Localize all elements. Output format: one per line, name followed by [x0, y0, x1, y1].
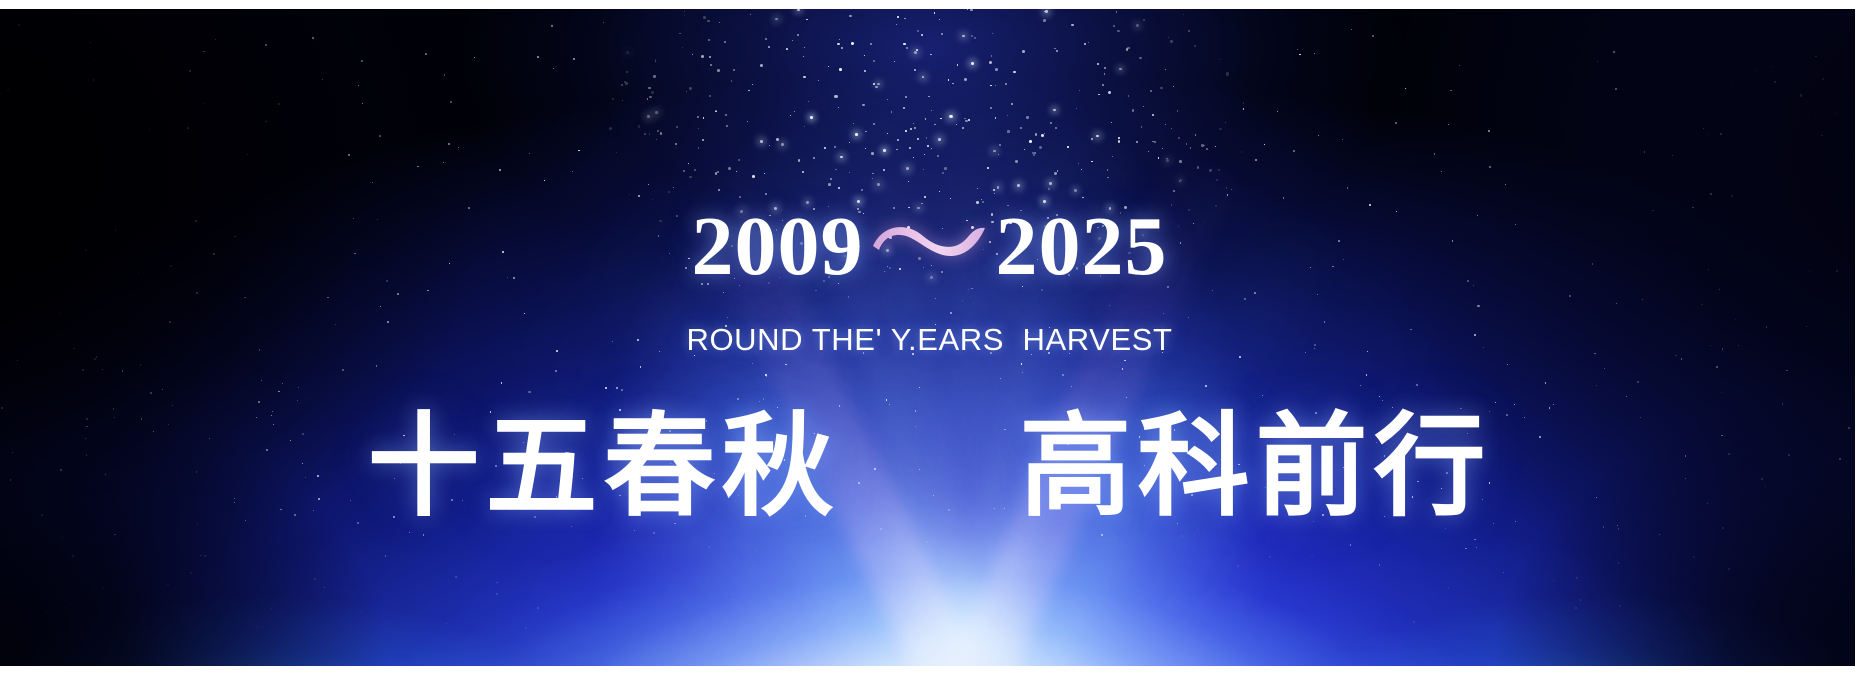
anniversary-banner: 2009 2025	[0, 0, 1859, 680]
wave-tilde-icon	[864, 212, 996, 270]
year-start: 2009	[692, 205, 864, 289]
banner-subtitle: ROUND THE' Y.EARS HARVEST	[0, 322, 1859, 358]
year-end: 2025	[996, 205, 1168, 289]
banner-headline: 十五春秋 高科前行	[0, 401, 1859, 533]
year-range: 2009 2025	[0, 205, 1859, 289]
headline-right: 高科前行	[1020, 401, 1492, 533]
top-white-strip	[0, 0, 1859, 9]
banner-artwork: 2009 2025	[0, 9, 1859, 666]
banner-content: 2009 2025	[0, 9, 1859, 666]
right-white-strip	[1855, 0, 1859, 680]
headline-left: 十五春秋	[368, 401, 840, 533]
bottom-white-strip	[0, 666, 1859, 680]
